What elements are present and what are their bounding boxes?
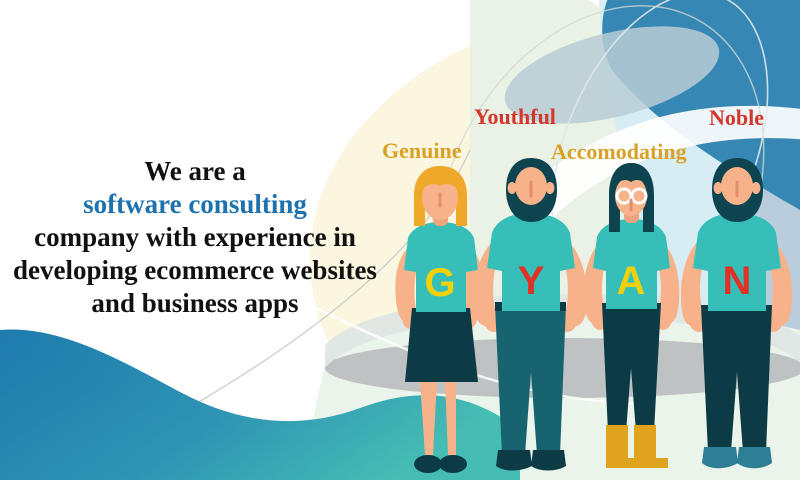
headline-line-2-accent: software consulting [0,188,400,221]
team-member-g: G [395,166,483,473]
member-y-left-ear [508,182,517,194]
headline-line-4: developing ecommerce websites [0,254,400,287]
shirt-letter-y: Y [518,259,545,303]
team-member-a: A [584,163,680,468]
member-n-trousers [701,305,772,452]
trait-label-genuine: Genuine [382,139,461,163]
member-a-trousers [602,303,661,432]
member-y-right-ear [546,182,555,194]
member-n-left-ear [714,182,723,194]
trait-label-accomodating: Accomodating [551,140,687,164]
shirt-letter-a: A [617,259,646,303]
member-g-left-shoe [414,455,442,473]
trait-label-youthful: Youthful [474,105,556,129]
shirt-letter-n: N [723,259,752,303]
member-n-right-ear [752,182,761,194]
member-n-right-shoe [737,447,772,468]
banner-canvas: G Y [0,0,800,480]
member-g-right-leg [445,380,456,455]
member-y-right-shoe [531,450,566,471]
headline-block: We are a software consulting company wit… [0,155,400,320]
headline-line-5: and business apps [0,287,400,320]
team-member-n: N [681,158,792,468]
member-y-left-shoe [496,450,532,471]
member-a-right-boot [634,425,668,468]
member-g-skirt [405,308,478,382]
headline-line-1: We are a [0,155,400,188]
team-member-y: Y [474,158,587,471]
member-g-left-leg [420,380,437,455]
headline-line-3: company with experience in [0,221,400,254]
member-y-trousers [495,305,566,455]
member-n-left-shoe [702,447,738,468]
trait-label-noble: Noble [709,106,764,130]
shirt-letter-g: G [424,261,455,305]
member-g-right-shoe [439,455,467,473]
